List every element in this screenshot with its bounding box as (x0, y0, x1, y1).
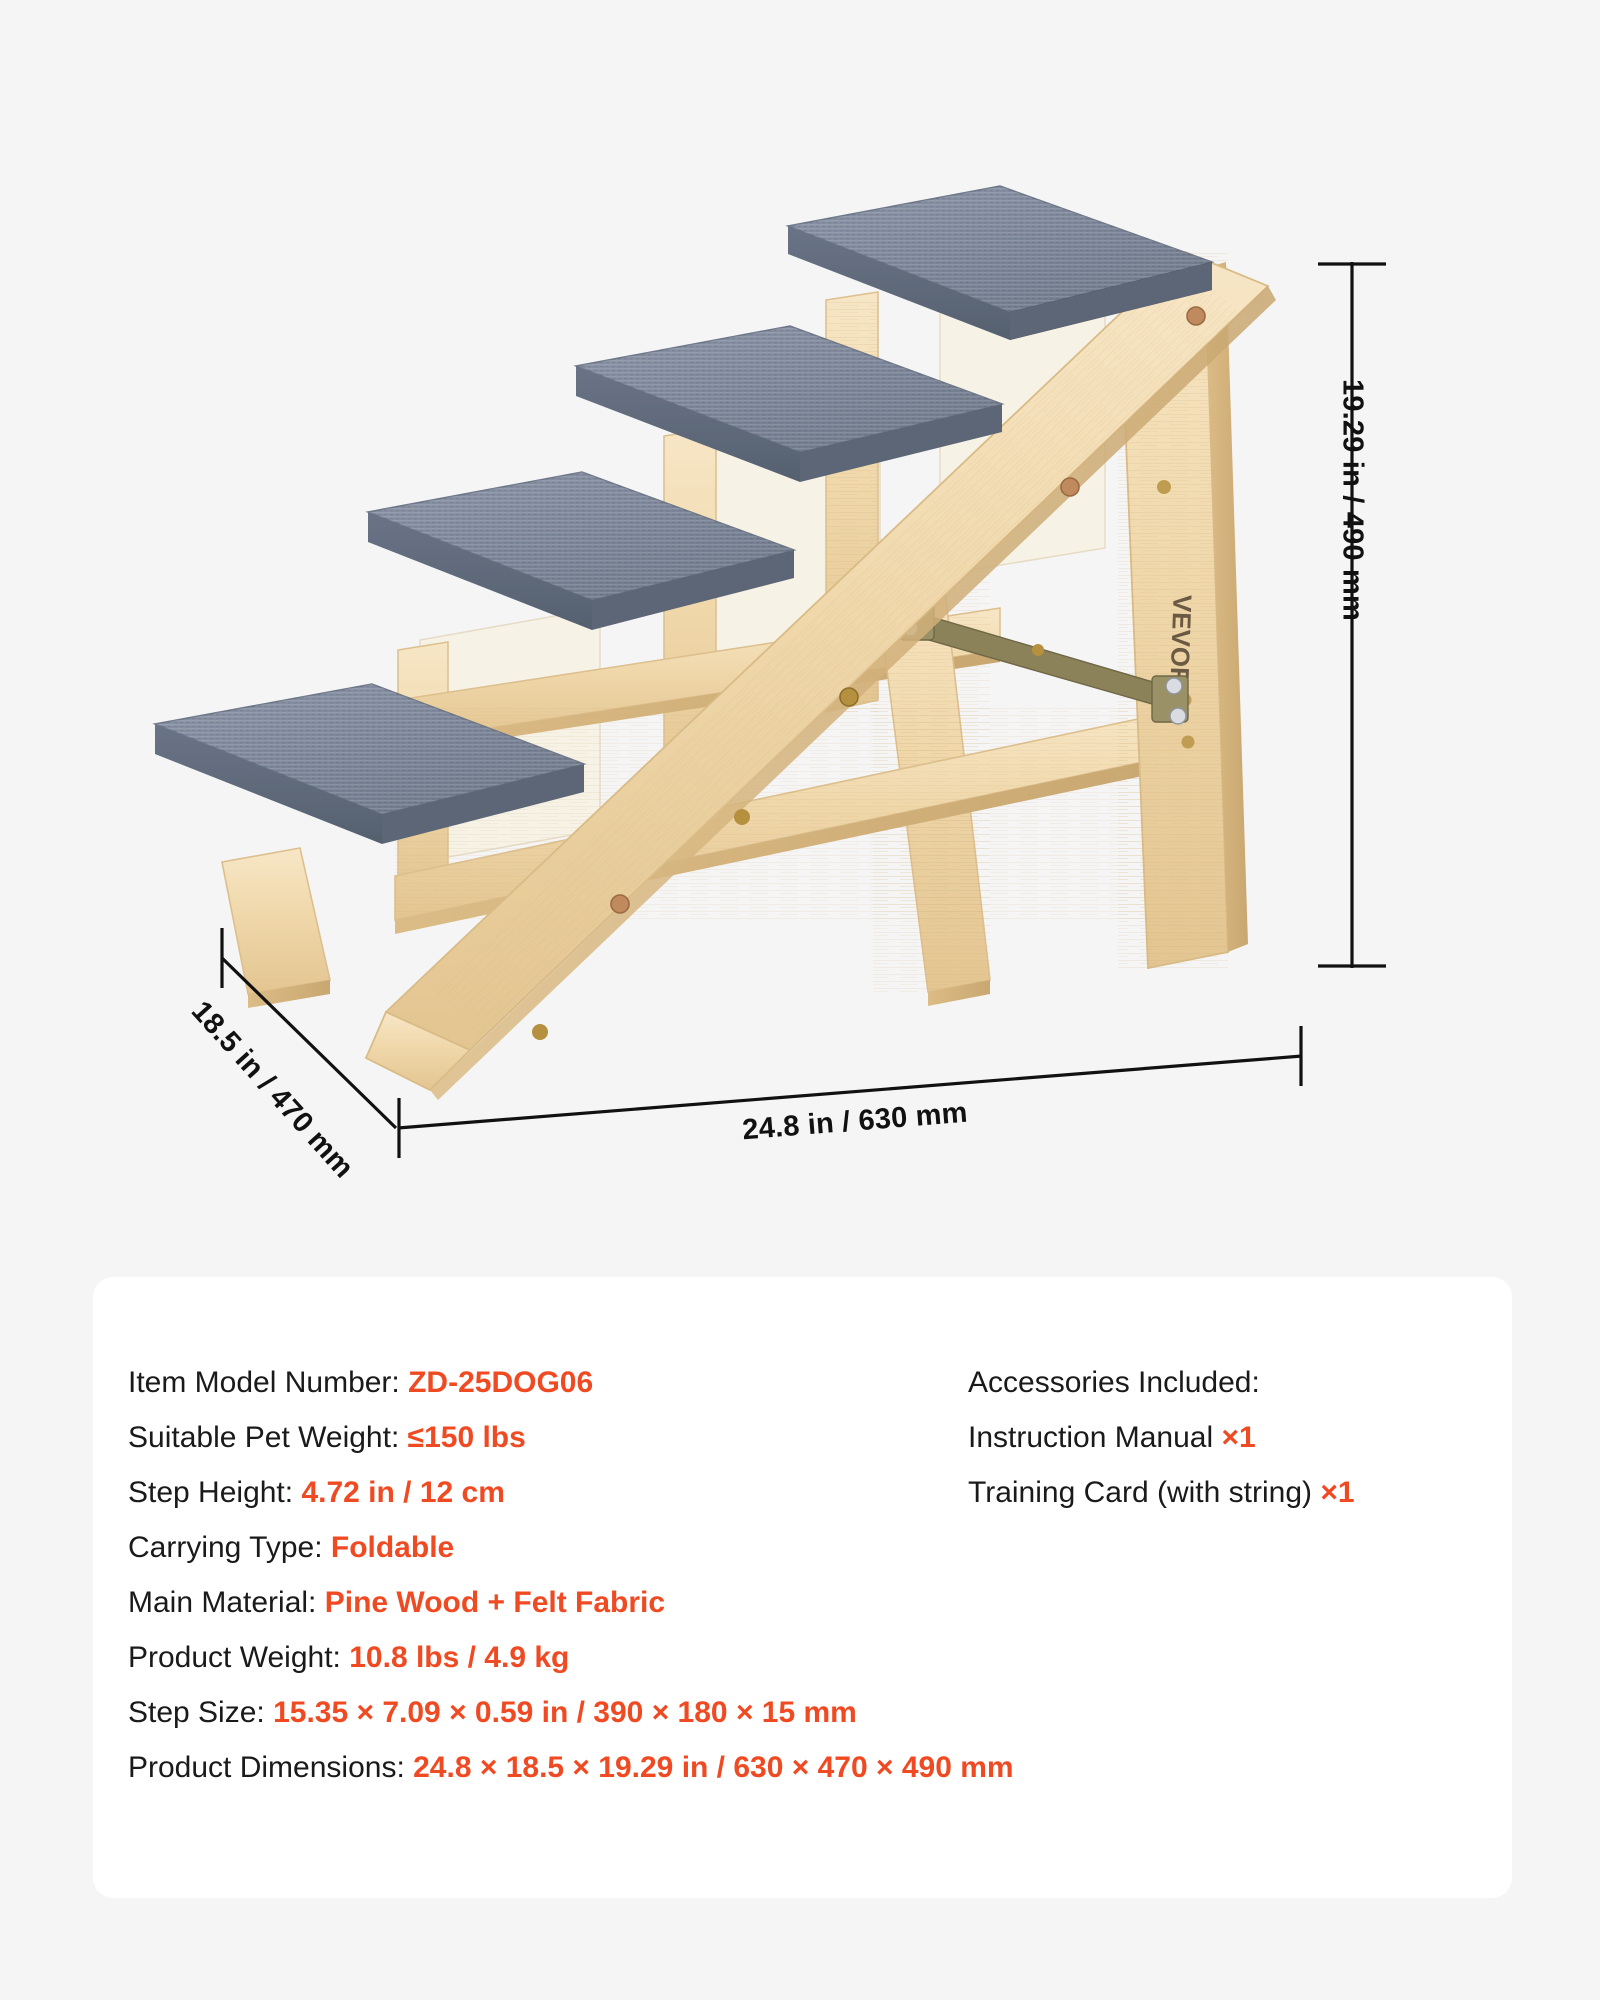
spec-value: ×1 (1320, 1476, 1354, 1509)
spec-list-right: Accessories Included:Instruction Manual … (968, 1355, 1468, 1795)
spec-value: 10.8 lbs / 4.9 kg (349, 1641, 569, 1674)
spec-value: ≤150 lbs (408, 1421, 526, 1454)
spec-value: Pine Wood + Felt Fabric (325, 1586, 665, 1619)
screw-icon (1187, 307, 1205, 325)
spec-value: Foldable (331, 1531, 454, 1564)
product-image: VEVOR (0, 0, 1600, 1250)
accessory-row: Instruction Manual ×1 (968, 1410, 1468, 1465)
spec-row: Step Height: 4.72 in / 12 cm (128, 1465, 968, 1520)
spec-row: Carrying Type: Foldable (128, 1520, 968, 1575)
spec-row: Suitable Pet Weight: ≤150 lbs (128, 1410, 968, 1465)
screw-icon (1166, 678, 1182, 694)
screw-icon (1170, 708, 1186, 724)
spec-value: ×1 (1221, 1421, 1255, 1454)
accessories-heading: Accessories Included: (968, 1355, 1468, 1410)
spec-key: Carrying Type: (128, 1531, 331, 1564)
screw-icon (734, 809, 750, 825)
screw-icon (840, 688, 858, 706)
spec-row: Product Weight: 10.8 lbs / 4.9 kg (128, 1630, 968, 1685)
diagonal-front-rail (128, 0, 1543, 1250)
step-tread (576, 326, 1002, 482)
spec-list-left: Item Model Number: ZD-25DOG06Suitable Pe… (128, 1355, 968, 1795)
spec-value: 15.35 × 7.09 × 0.59 in / 390 × 180 × 15 … (273, 1696, 857, 1729)
spec-key: Step Height: (128, 1476, 301, 1509)
spec-row: Step Size: 15.35 × 7.09 × 0.59 in / 390 … (128, 1685, 968, 1740)
screw-icon (611, 895, 629, 913)
spec-key: Training Card (with string) (968, 1476, 1320, 1509)
spec-value: ZD-25DOG06 (408, 1366, 593, 1399)
spec-key: Step Size: (128, 1696, 273, 1729)
spec-value: 4.72 in / 12 cm (301, 1476, 504, 1509)
screw-icon (532, 1024, 548, 1040)
spec-key: Product Dimensions: (128, 1751, 413, 1784)
specification-card: Item Model Number: ZD-25DOG06Suitable Pe… (93, 1277, 1512, 1898)
spec-row: Item Model Number: ZD-25DOG06 (128, 1355, 968, 1410)
spec-key: Main Material: (128, 1586, 325, 1619)
spec-row: Product Dimensions: 24.8 × 18.5 × 19.29 … (128, 1740, 968, 1795)
screw-icon (1061, 478, 1079, 496)
spec-value: 24.8 × 18.5 × 19.29 in / 630 × 470 × 490… (413, 1751, 1013, 1784)
dimension-label-height: 19.29 in / 490 mm (1336, 379, 1369, 621)
spec-row: Main Material: Pine Wood + Felt Fabric (128, 1575, 968, 1630)
spec-key: Suitable Pet Weight: (128, 1421, 408, 1454)
spec-key: Instruction Manual (968, 1421, 1221, 1454)
spec-key: Item Model Number: (128, 1366, 408, 1399)
left-foot (222, 848, 330, 1008)
accessory-row: Training Card (with string) ×1 (968, 1465, 1468, 1520)
spec-key: Product Weight: (128, 1641, 349, 1674)
brand-logo-text: VEVOR (1164, 594, 1197, 686)
